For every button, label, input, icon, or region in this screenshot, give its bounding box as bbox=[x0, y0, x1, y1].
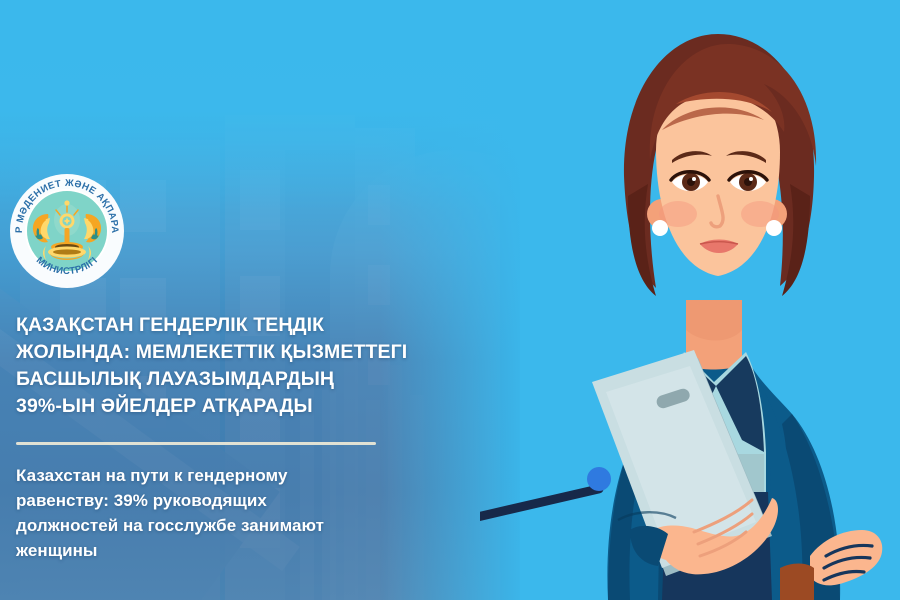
neck-shadow bbox=[686, 300, 742, 341]
skirt-accent bbox=[780, 564, 814, 600]
divider-rule bbox=[16, 442, 376, 445]
text-block: ҚАЗАҚСТАН ГЕНДЕРЛІК ТЕҢДІК ЖОЛЫНДА: МЕМЛ… bbox=[16, 312, 436, 563]
poster-canvas: ҚР МӘДЕНИЕТ ЖӘНЕ АҚПАРАТ МИНИСТРЛІГІ bbox=[0, 0, 900, 600]
subheadline-russian: Казахстан на пути к гендерному равенству… bbox=[16, 463, 436, 563]
pointer-stick-icon bbox=[480, 467, 611, 523]
kazakhstan-ministry-emblem-icon: ҚР МӘДЕНИЕТ ЖӘНЕ АҚПАРАТ МИНИСТРЛІГІ bbox=[8, 172, 126, 290]
headline-kazakh: ҚАЗАҚСТАН ГЕНДЕРЛІК ТЕҢДІК ЖОЛЫНДА: МЕМЛ… bbox=[16, 312, 436, 420]
earring-right bbox=[766, 220, 782, 236]
earring-left bbox=[652, 220, 668, 236]
businesswoman-illustration bbox=[480, 0, 900, 600]
